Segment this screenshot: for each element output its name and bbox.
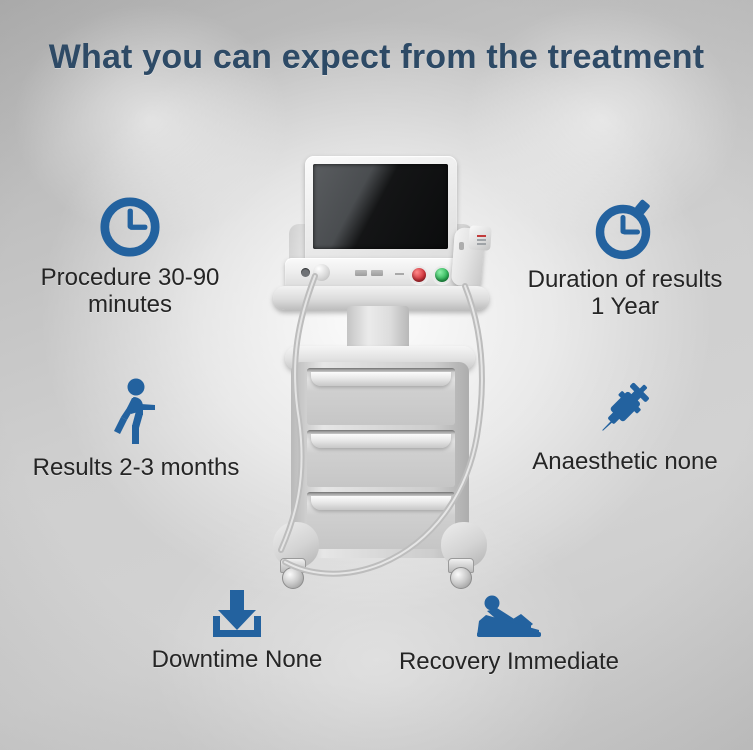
device-illustration: [255, 150, 505, 620]
feature-downtime: Downtime None: [124, 588, 350, 673]
reclining-person-icon: [378, 594, 640, 642]
feature-anaesthetic: Anaesthetic none: [500, 376, 750, 475]
syringe-icon: [500, 376, 750, 442]
feature-results-label: Results 2-3 months: [0, 454, 272, 481]
running-person-icon: [0, 378, 272, 448]
feature-procedure-label: Procedure 30-90 minutes: [2, 264, 258, 318]
device-cables: [255, 150, 505, 620]
feature-results: Results 2-3 months: [0, 378, 272, 481]
infographic-poster: What you can expect from the treatment: [0, 0, 753, 750]
feature-recovery-label: Recovery Immediate: [378, 648, 640, 675]
clock-icon: [2, 196, 258, 258]
feature-duration: Duration of results 1 Year: [497, 196, 753, 320]
feature-duration-label: Duration of results 1 Year: [497, 266, 753, 320]
stopwatch-icon: [497, 196, 753, 260]
download-arrow-icon: [124, 588, 350, 640]
feature-procedure: Procedure 30-90 minutes: [2, 196, 258, 318]
feature-recovery: Recovery Immediate: [378, 594, 640, 675]
page-title: What you can expect from the treatment: [0, 38, 753, 77]
feature-downtime-label: Downtime None: [124, 646, 350, 673]
feature-anaesthetic-label: Anaesthetic none: [500, 448, 750, 475]
